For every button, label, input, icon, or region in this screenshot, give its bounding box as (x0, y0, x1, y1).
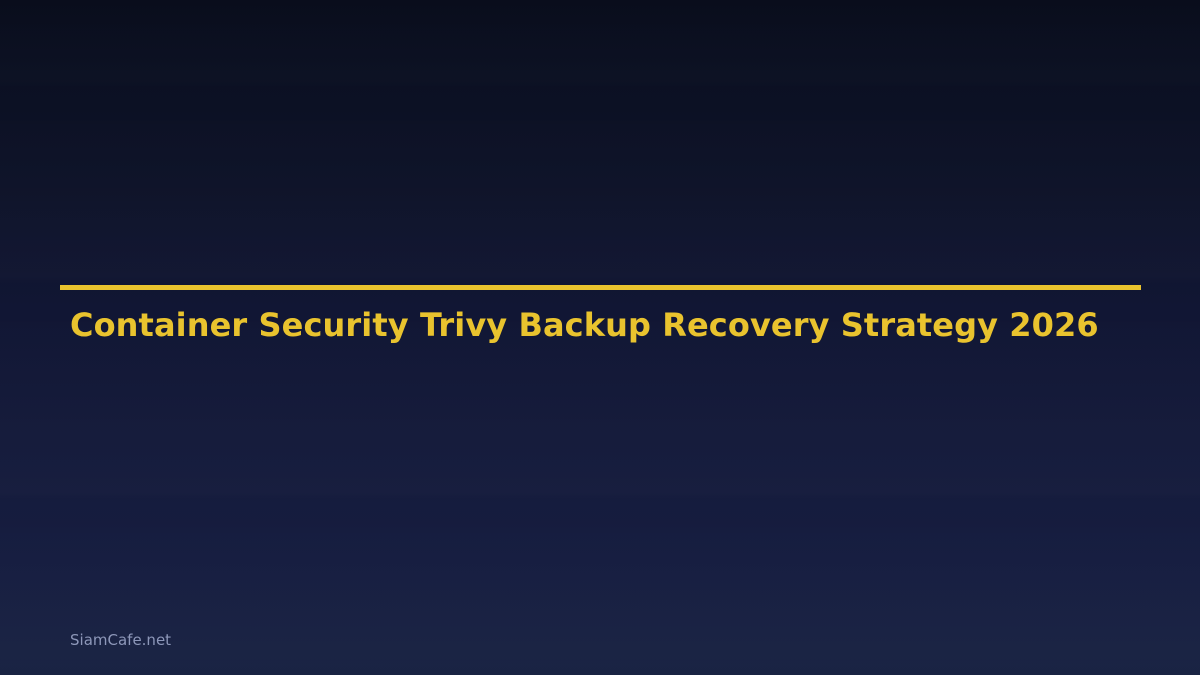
accent-bar (60, 285, 1141, 290)
slide-title: Container Security Trivy Backup Recovery… (70, 306, 1099, 344)
title-block: Container Security Trivy Backup Recovery… (60, 285, 1141, 290)
presentation-slide: Container Security Trivy Backup Recovery… (0, 0, 1200, 675)
footer-brand-label: SiamCafe.net (70, 630, 171, 650)
